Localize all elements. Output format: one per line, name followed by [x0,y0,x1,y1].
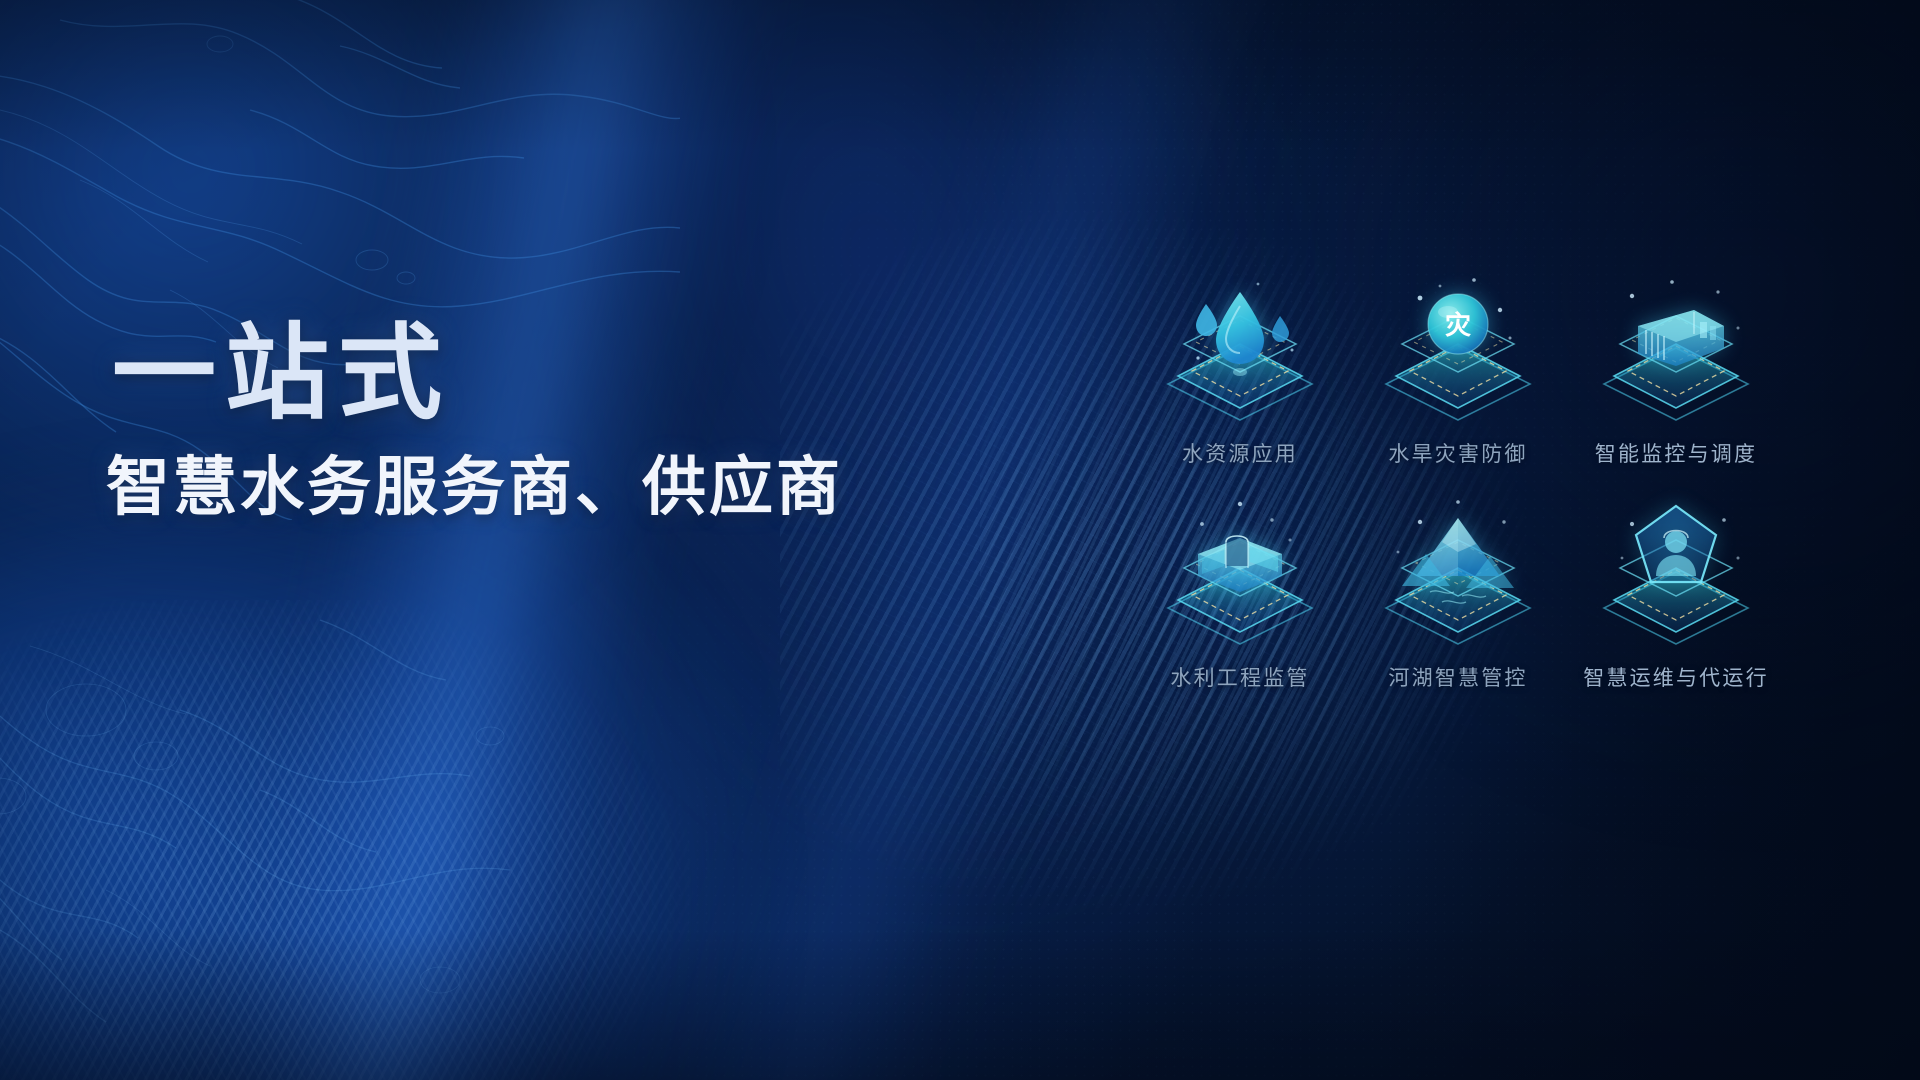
service-item-label: 河湖智慧管控 [1388,662,1527,692]
shield-operations-isometric-platform-icon [1576,492,1776,660]
service-item-label: 水资源应用 [1182,438,1298,468]
service-icon-grid: 水资源应用 [1135,268,1781,716]
service-item-water-resource[interactable]: 水资源应用 [1135,268,1345,492]
service-item-smart-ops-outsourcing[interactable]: 智慧运维与代运行 [1571,492,1781,716]
slide-canvas: 一站式 智慧水务服务商、供应商 [0,0,1920,1080]
diagonal-light-beam [151,0,840,1080]
service-item-hydro-engineering-supervision[interactable]: 水利工程监管 [1135,492,1345,716]
service-item-flood-drought-defense[interactable]: 灾 水旱灾害防御 [1353,268,1563,492]
service-item-smart-monitoring-dispatch[interactable]: 智能监控与调度 [1571,268,1781,492]
service-item-label: 智慧运维与代运行 [1583,662,1769,692]
water-droplet-isometric-platform-icon [1140,268,1340,436]
page-title: 一站式 [112,318,843,430]
hydro-engineering-isometric-platform-icon [1140,492,1340,660]
water-ink-texture-bottom-left [0,560,700,1080]
service-item-river-lake-control[interactable]: 河湖智慧管控 [1353,492,1563,716]
background-glow-bottom-left [0,520,840,1080]
service-item-label: 水利工程监管 [1170,662,1309,692]
background-glow-top-left [0,0,740,620]
disaster-badge-character: 灾 [1445,310,1471,341]
background-wave-fabric-bottom-left [0,600,940,1080]
page-subtitle: 智慧水务服务商、供应商 [106,450,843,526]
headline-block: 一站式 智慧水务服务商、供应商 [112,318,843,526]
river-lake-mountain-isometric-platform-icon [1358,492,1558,660]
service-item-label: 水旱灾害防御 [1388,438,1527,468]
service-item-label: 智能监控与调度 [1595,438,1757,468]
disaster-sphere-isometric-platform-icon: 灾 [1358,268,1558,436]
dam-monitoring-isometric-platform-icon [1576,268,1776,436]
